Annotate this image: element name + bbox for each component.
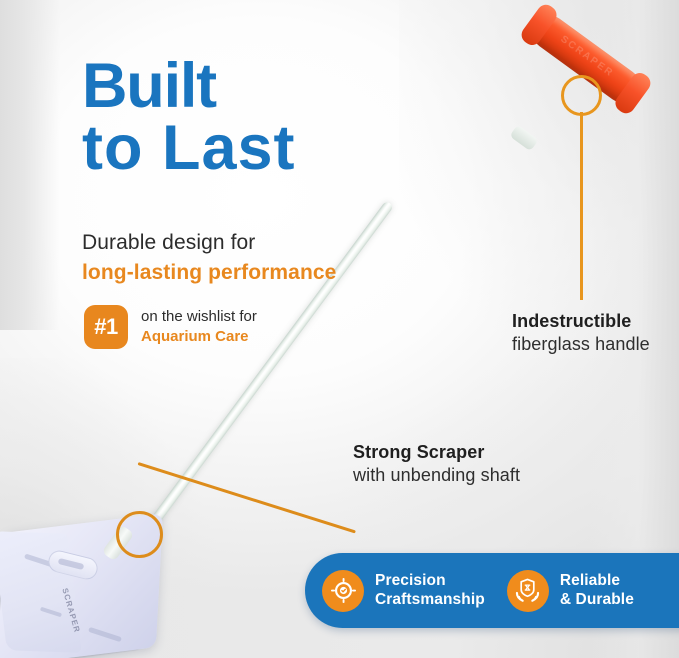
highlight-circle-scraper: [116, 511, 163, 558]
shield-hands-icon: [507, 570, 549, 612]
feature-reliable-line-1: Reliable: [560, 572, 634, 591]
feature-precision-line-2: Craftsmanship: [375, 591, 485, 610]
headline-line-1: Built: [82, 56, 296, 118]
feature-precision-line-1: Precision: [375, 572, 485, 591]
feature-reliable-durable: Reliable & Durable: [507, 570, 634, 612]
background-vignette-top-right: [399, 0, 679, 360]
target-check-icon: [322, 570, 364, 612]
callout-scraper-subtitle: with unbending shaft: [353, 464, 520, 487]
page-title: Built to Last: [82, 56, 296, 179]
callout-scraper-title: Strong Scraper: [353, 441, 520, 464]
leader-line-handle: [580, 112, 583, 300]
wishlist-badge-row: #1 on the wishlist for Aquarium Care: [84, 305, 257, 349]
subheadline-line-1: Durable design for: [82, 228, 336, 258]
wishlist-line-2: Aquarium Care: [141, 327, 257, 347]
subheadline: Durable design for long-lasting performa…: [82, 228, 336, 288]
handle-ferrule: [509, 125, 538, 152]
grip-end-cap-top: [612, 69, 654, 116]
feature-precision-label: Precision Craftsmanship: [375, 572, 485, 609]
subheadline-line-2: long-lasting performance: [82, 258, 336, 288]
headline-line-2: to Last: [82, 118, 296, 180]
feature-precision-craftsmanship: Precision Craftsmanship: [322, 570, 485, 612]
promo-image: SCRAPER SCRAPER Built to Last Durable de…: [0, 0, 679, 658]
callout-handle-title: Indestructible: [512, 310, 650, 333]
callout-handle: Indestructible fiberglass handle: [512, 310, 650, 357]
scraper-head: SCRAPER: [0, 514, 192, 658]
wishlist-line-1: on the wishlist for: [141, 307, 257, 327]
callout-scraper: Strong Scraper with unbending shaft: [353, 441, 520, 488]
grip-embossed-label: SCRAPER: [558, 34, 615, 80]
feature-reliable-line-2: & Durable: [560, 591, 634, 610]
wishlist-text: on the wishlist for Aquarium Care: [141, 307, 257, 348]
highlight-circle-handle: [561, 75, 602, 116]
callout-handle-subtitle: fiberglass handle: [512, 333, 650, 356]
feature-bar: Precision Craftsmanship Reliable & Durab…: [305, 553, 679, 628]
rank-badge: #1: [84, 305, 128, 349]
grip-end-cap-bottom: [518, 1, 560, 48]
feature-reliable-label: Reliable & Durable: [560, 572, 634, 609]
background-vignette-top-left: [0, 0, 60, 330]
